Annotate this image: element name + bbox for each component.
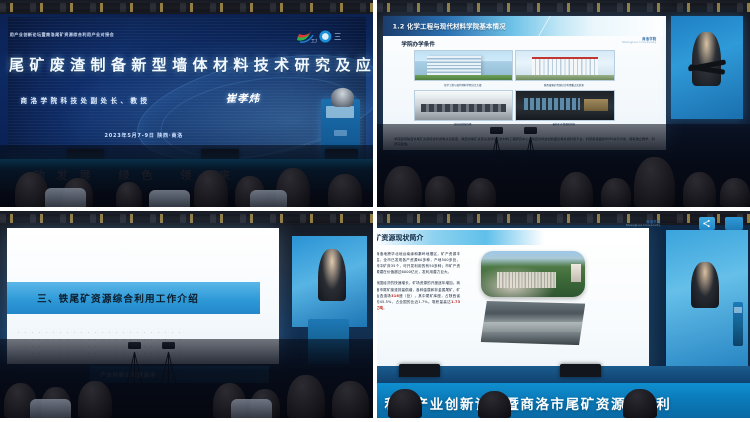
highlight-316: 316 xyxy=(391,294,399,298)
share-icon[interactable] xyxy=(699,217,715,230)
panel-top-left[interactable]: 用产业创新论坛暨商洛尾矿资源综合利用产业对接会 尾矿废渣制备新型墙体材料技术研究… xyxy=(0,0,373,207)
audience-head xyxy=(720,178,750,207)
svg-text:工大: 工大 xyxy=(311,37,317,43)
audience-head xyxy=(328,174,362,207)
audience-chair xyxy=(45,188,86,207)
audience-head xyxy=(467,178,497,207)
lab-interior-photo xyxy=(414,90,513,121)
lab-building-photo xyxy=(515,50,614,81)
exhibition-hall-photo xyxy=(515,90,614,121)
audience-head xyxy=(683,172,717,207)
audience-head xyxy=(116,182,142,207)
audience-head xyxy=(384,166,421,207)
live-video-feed xyxy=(666,230,748,375)
hall-ceiling xyxy=(377,0,750,14)
speaker-figure xyxy=(331,88,353,107)
town-landscape-photo xyxy=(481,251,586,297)
speaker-closeup xyxy=(691,262,719,308)
speaker-closeup xyxy=(692,32,721,86)
live-video-feed xyxy=(671,16,744,120)
slide-section-title: 三、铁尾矿资源综合利用工作介绍 xyxy=(37,291,199,305)
photo-collage: 用产业创新论坛暨商洛尾矿资源综合利用产业对接会 尾矿废渣制备新型墙体材料技术研究… xyxy=(0,0,750,422)
audience-head xyxy=(425,176,455,207)
slide-title-band: 三、铁尾矿资源综合利用工作介绍 xyxy=(7,282,260,313)
audience-head xyxy=(78,381,112,418)
tailings-pond-photo xyxy=(481,301,586,345)
audience-chair xyxy=(149,190,190,207)
audience-head xyxy=(478,391,512,418)
paragraph-2-end: 。 xyxy=(383,306,387,310)
building-photo xyxy=(414,50,513,81)
speaker-name: 崔孝炜 xyxy=(226,91,261,106)
audience-head xyxy=(332,381,369,418)
university-brand: 商洛学院 ShangLuo University xyxy=(626,220,661,228)
slide-header-title: 矿资源现状简介 xyxy=(377,233,423,243)
slide-header-band: 1.2 化学工程与现代材料学院基本情况 xyxy=(383,16,666,36)
hall-ceiling xyxy=(0,0,373,14)
slide-text-column: 商洛地跨华北地台南缘和秦岭地槽区，矿产资源丰富。全市已发现各产资源60多种，产地… xyxy=(377,251,460,311)
main-title: 尾矿废渣制备新型墙体材料技术研究及应用 xyxy=(9,54,373,75)
slide-photo-cell: 秦岭矿产资源陈列室 xyxy=(515,90,612,126)
paragraph-2: 我国经济的快速增长，矿场资源的开度逐年增加。商洛市尾矿废渣排量俱增，各种金属和非… xyxy=(377,280,460,310)
stage-monitor xyxy=(560,364,601,376)
photo-caption: 陕西省尾矿资源综合利用重点实验室 xyxy=(515,83,612,87)
shaanxi-s-logo-icon: 工大 xyxy=(295,29,317,44)
speaker-closeup xyxy=(318,249,346,302)
stage-monitor xyxy=(399,364,440,376)
audience-head xyxy=(194,170,228,207)
event-line: 用产业创新论坛暨商洛尾矿资源综合利用产业对接会 xyxy=(10,32,115,38)
audience-head xyxy=(601,178,631,207)
slide-subheading: 学院办学条件 xyxy=(401,40,435,48)
audience-head xyxy=(388,389,422,418)
slide-header-title: 1.2 化学工程与现代材料学院基本情况 xyxy=(393,21,506,30)
svg-text:三: 三 xyxy=(334,32,341,41)
slide-header-band: 矿资源现状简介 xyxy=(377,230,649,245)
audience-head xyxy=(560,172,594,207)
slide-photo-cell: 陕西省尾矿资源综合利用重点实验室 xyxy=(515,50,612,86)
podium xyxy=(733,302,744,345)
partner-circle-logo-icon: 三 xyxy=(318,29,358,44)
hall-ceiling xyxy=(377,211,750,225)
paragraph-1: 商洛地跨华北地台南缘和秦岭地槽区，矿产资源丰富。全市已发现各产资源60多种，产地… xyxy=(377,251,460,275)
panel-bottom-left[interactable]: 三、铁尾矿资源综合利用工作介绍 产业创新论坛暨商洛 xyxy=(0,211,373,418)
slide-photo-cell: 化学工程与现代材料学院综合大楼 xyxy=(414,50,511,86)
panel-top-right[interactable]: 1.2 化学工程与现代材料学院基本情况 商洛学院 ShangLuo Univer… xyxy=(377,0,750,207)
hall-ceiling xyxy=(0,211,373,225)
stage-banner-strip: 利用产业创新论坛暨商洛市尾矿资源综合利 xyxy=(377,383,750,418)
photo-caption: 化学工程与现代材料学院综合大楼 xyxy=(414,83,511,87)
projection-screen: 矿资源现状简介 商洛地跨华北地台南缘和秦岭地槽区，矿产资源丰富。全市已发现各产资… xyxy=(377,228,649,375)
audience-chair xyxy=(231,399,272,418)
brand-en: ShangLuo University xyxy=(622,41,657,45)
audience-head xyxy=(623,389,657,418)
panel-bottom-right[interactable]: 矿资源现状简介 商洛地跨华北地台南缘和秦岭地槽区，矿产资源丰富。全市已发现各产资… xyxy=(377,211,750,418)
brand-en: ShangLuo University xyxy=(626,224,661,228)
live-video-feed xyxy=(292,236,367,327)
slide-photo-grid: 化学工程与现代材料学院综合大楼 陕西省尾矿资源综合利用重点实验室 部分实验室内景… xyxy=(414,50,612,125)
speaker-affiliation: 商洛学院科技处副处长、教授 xyxy=(21,95,151,105)
audience-chair xyxy=(30,399,71,418)
audience-chair xyxy=(250,190,287,207)
slide-photo-cell: 部分实验室内景 xyxy=(414,90,511,126)
university-brand: 商洛学院 ShangLuo University xyxy=(622,37,657,45)
menu-icon[interactable] xyxy=(725,217,743,230)
audience-head xyxy=(634,157,675,207)
date-location: 2023年5月7-9日 陕西·商洛 xyxy=(104,132,183,139)
audience-head xyxy=(287,375,324,418)
